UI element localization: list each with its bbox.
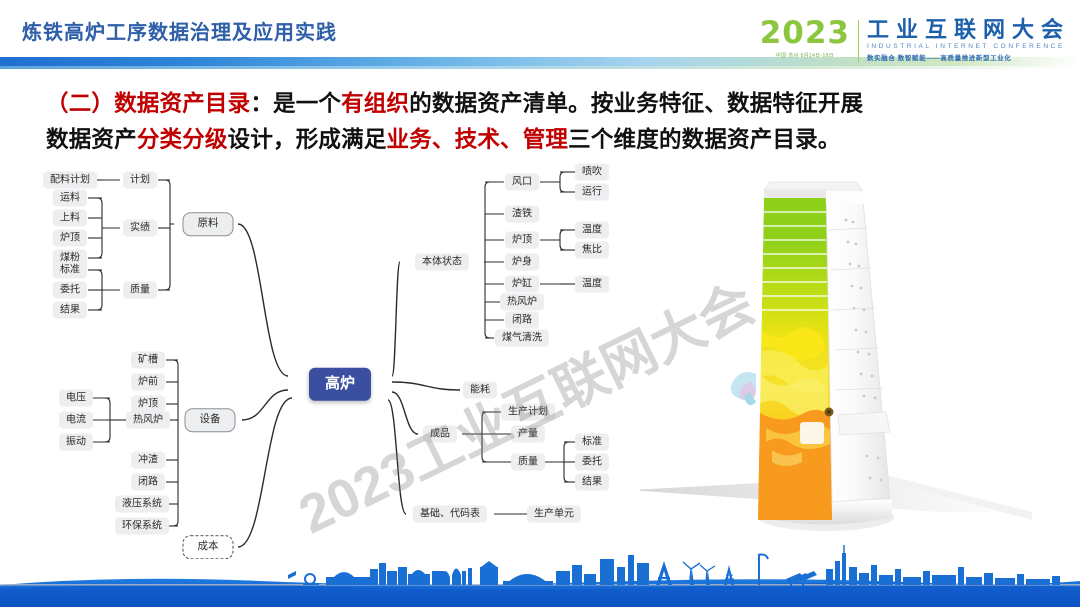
heading-paragraph: （二）数据资产目录：是一个有组织的数据资产清单。按业务特征、数据特征开展 数据资… bbox=[46, 86, 1046, 159]
mindmap-node-渣铁-b1[interactable]: 渣铁 bbox=[505, 206, 539, 223]
mindmap-branch-成品[interactable]: 成品 bbox=[423, 426, 457, 443]
heading-line-1: （二）数据资产目录：是一个有组织的数据资产清单。按业务特征、数据特征开展 bbox=[46, 86, 1046, 122]
mindmap-node-冲渣-d4[interactable]: 冲渣 bbox=[131, 452, 165, 469]
logo-divider bbox=[858, 20, 859, 62]
heading-segment-1: 分类分级 bbox=[137, 127, 228, 152]
mindmap-node-炉身-b3[interactable]: 炉身 bbox=[505, 254, 539, 271]
mindmap-node-风口-b0[interactable]: 风口 bbox=[505, 174, 539, 191]
conference-logo: 2023 中国·苏州 8月14日-18日 工业互联网大会 INDUSTRIAL … bbox=[760, 18, 1070, 62]
blast-furnace-figure bbox=[640, 160, 1070, 560]
mindmap-leaf-结果[interactable]: 结果 bbox=[53, 302, 87, 319]
mindmap-node-生产计划-p0[interactable]: 生产计划 bbox=[501, 404, 555, 421]
mindmap-leaf-标准[interactable]: 标准 bbox=[53, 262, 87, 279]
heading-segment-2: 设计，形成满足 bbox=[228, 127, 387, 152]
mindmap-node-产量-p1[interactable]: 产量 bbox=[511, 426, 545, 443]
title-divider-secondary bbox=[0, 66, 1080, 69]
slide-canvas: 炼铁高炉工序数据治理及应用实践 2023 中国·苏州 8月14日-18日 工业互… bbox=[0, 0, 1080, 607]
mindmap-node-炉前-d1[interactable]: 炉前 bbox=[131, 374, 165, 391]
mindmap-node-闭路-d5[interactable]: 闭路 bbox=[131, 474, 165, 491]
logo-name-en: INDUSTRIAL INTERNET CONFERENCE bbox=[867, 43, 1070, 50]
logo-year-block: 2023 中国·苏州 8月14日-18日 bbox=[760, 18, 858, 59]
mindmap-node-煤气清洗-b7[interactable]: 煤气清洗 bbox=[495, 330, 549, 347]
mindmap-leaf-炉顶[interactable]: 炉顶 bbox=[53, 230, 87, 247]
footer-skyline bbox=[0, 541, 1080, 607]
mindmap-node-计划-0[interactable]: 计划 bbox=[123, 172, 157, 189]
mindmap-branch-设备[interactable]: 设备 bbox=[185, 408, 236, 432]
mindmap-branch-能耗[interactable]: 能耗 bbox=[463, 382, 497, 399]
heading-segment-0: 数据资产 bbox=[46, 127, 137, 152]
heading-segment-3: 业务、技术、管理 bbox=[387, 127, 569, 152]
mindmap-node-环保系统-d7[interactable]: 环保系统 bbox=[115, 518, 169, 535]
mindmap-branch-基础代码表[interactable]: 基础、代码表 bbox=[413, 506, 487, 523]
mindmap-leaf-电流-d1[interactable]: 电流 bbox=[59, 412, 93, 429]
mindmap-leaf-振动-d2[interactable]: 振动 bbox=[59, 434, 93, 451]
data-asset-catalog-mindmap: 高炉原料计划配料计划实绩运料上料炉顶煤粉质量标准委托结果设备矿槽炉前炉顶热风炉电… bbox=[30, 162, 650, 562]
heading-segment-4: 三个维度的数据资产目录。 bbox=[568, 127, 840, 152]
mindmap-branch-本体状态[interactable]: 本体状态 bbox=[415, 254, 469, 271]
mindmap-leaf-委托[interactable]: 委托 bbox=[53, 282, 87, 299]
logo-year: 2023 bbox=[760, 18, 850, 49]
mindmap-leaf-标准-p0[interactable]: 标准 bbox=[575, 434, 609, 451]
mindmap-node-炉顶-d2[interactable]: 炉顶 bbox=[131, 396, 165, 413]
mindmap-node-热风炉-b5[interactable]: 热风炉 bbox=[500, 294, 544, 311]
mindmap-leaf-结果-p2[interactable]: 结果 bbox=[575, 474, 609, 491]
mindmap-node-热风炉-d3[interactable]: 热风炉 bbox=[126, 412, 170, 429]
mindmap-node-炉缸-b4[interactable]: 炉缸 bbox=[505, 276, 539, 293]
mindmap-leaf-配料计划[interactable]: 配料计划 bbox=[43, 172, 97, 189]
mindmap-leaf-焦比-b1[interactable]: 焦比 bbox=[575, 242, 609, 259]
mindmap-leaf-上料[interactable]: 上料 bbox=[53, 210, 87, 227]
mindmap-node-液压系统-d6[interactable]: 液压系统 bbox=[115, 496, 169, 513]
mindmap-node-实绩-1[interactable]: 实绩 bbox=[123, 220, 157, 237]
mindmap-node-矿槽-d0[interactable]: 矿槽 bbox=[131, 352, 165, 369]
logo-name-cn: 工业互联网大会 bbox=[867, 18, 1070, 41]
mindmap-node-炉顶-b2[interactable]: 炉顶 bbox=[505, 232, 539, 249]
skyline-illustration bbox=[0, 541, 1080, 607]
blast-furnace-illustration bbox=[640, 160, 1070, 560]
mindmap-leaf-运行-b1[interactable]: 运行 bbox=[575, 184, 609, 201]
mindmap-node-闭路-b6[interactable]: 闭路 bbox=[505, 312, 539, 329]
mindmap-leaf-温度-b0[interactable]: 温度 bbox=[575, 276, 609, 293]
heading-segment-2: 有组织 bbox=[341, 91, 409, 116]
heading-line-2: 数据资产分类分级设计，形成满足业务、技术、管理三个维度的数据资产目录。 bbox=[46, 122, 1046, 158]
logo-text-block: 工业互联网大会 INDUSTRIAL INTERNET CONFERENCE 数… bbox=[867, 18, 1070, 62]
mindmap-center-node[interactable]: 高炉 bbox=[309, 368, 371, 401]
logo-date: 中国·苏州 8月14日-18日 bbox=[776, 52, 834, 59]
mindmap-node-质量-2[interactable]: 质量 bbox=[123, 282, 157, 299]
mindmap-leaf-温度-b0[interactable]: 温度 bbox=[575, 222, 609, 239]
heading-segment-1: ：是一个 bbox=[250, 91, 341, 116]
mindmap-leaf-委托-p1[interactable]: 委托 bbox=[575, 454, 609, 471]
heading-segment-3: 的数据资产清单。按业务特征、数据特征开展 bbox=[409, 91, 863, 116]
mindmap-leaf-喷吹-b0[interactable]: 喷吹 bbox=[575, 164, 609, 181]
mindmap-node-质量-p2[interactable]: 质量 bbox=[511, 454, 545, 471]
mindmap-leaf-电压-d0[interactable]: 电压 bbox=[59, 390, 93, 407]
page-title: 炼铁高炉工序数据治理及应用实践 bbox=[22, 16, 337, 45]
heading-segment-0: （二）数据资产目录 bbox=[46, 91, 250, 116]
mindmap-leaf-运料[interactable]: 运料 bbox=[53, 190, 87, 207]
mindmap-node-生产单元[interactable]: 生产单元 bbox=[527, 506, 581, 523]
mindmap-branch-原料[interactable]: 原料 bbox=[183, 212, 234, 236]
logo-subtitle: 数实融合 数智赋能——高质量推进新型工业化 bbox=[867, 52, 1070, 62]
